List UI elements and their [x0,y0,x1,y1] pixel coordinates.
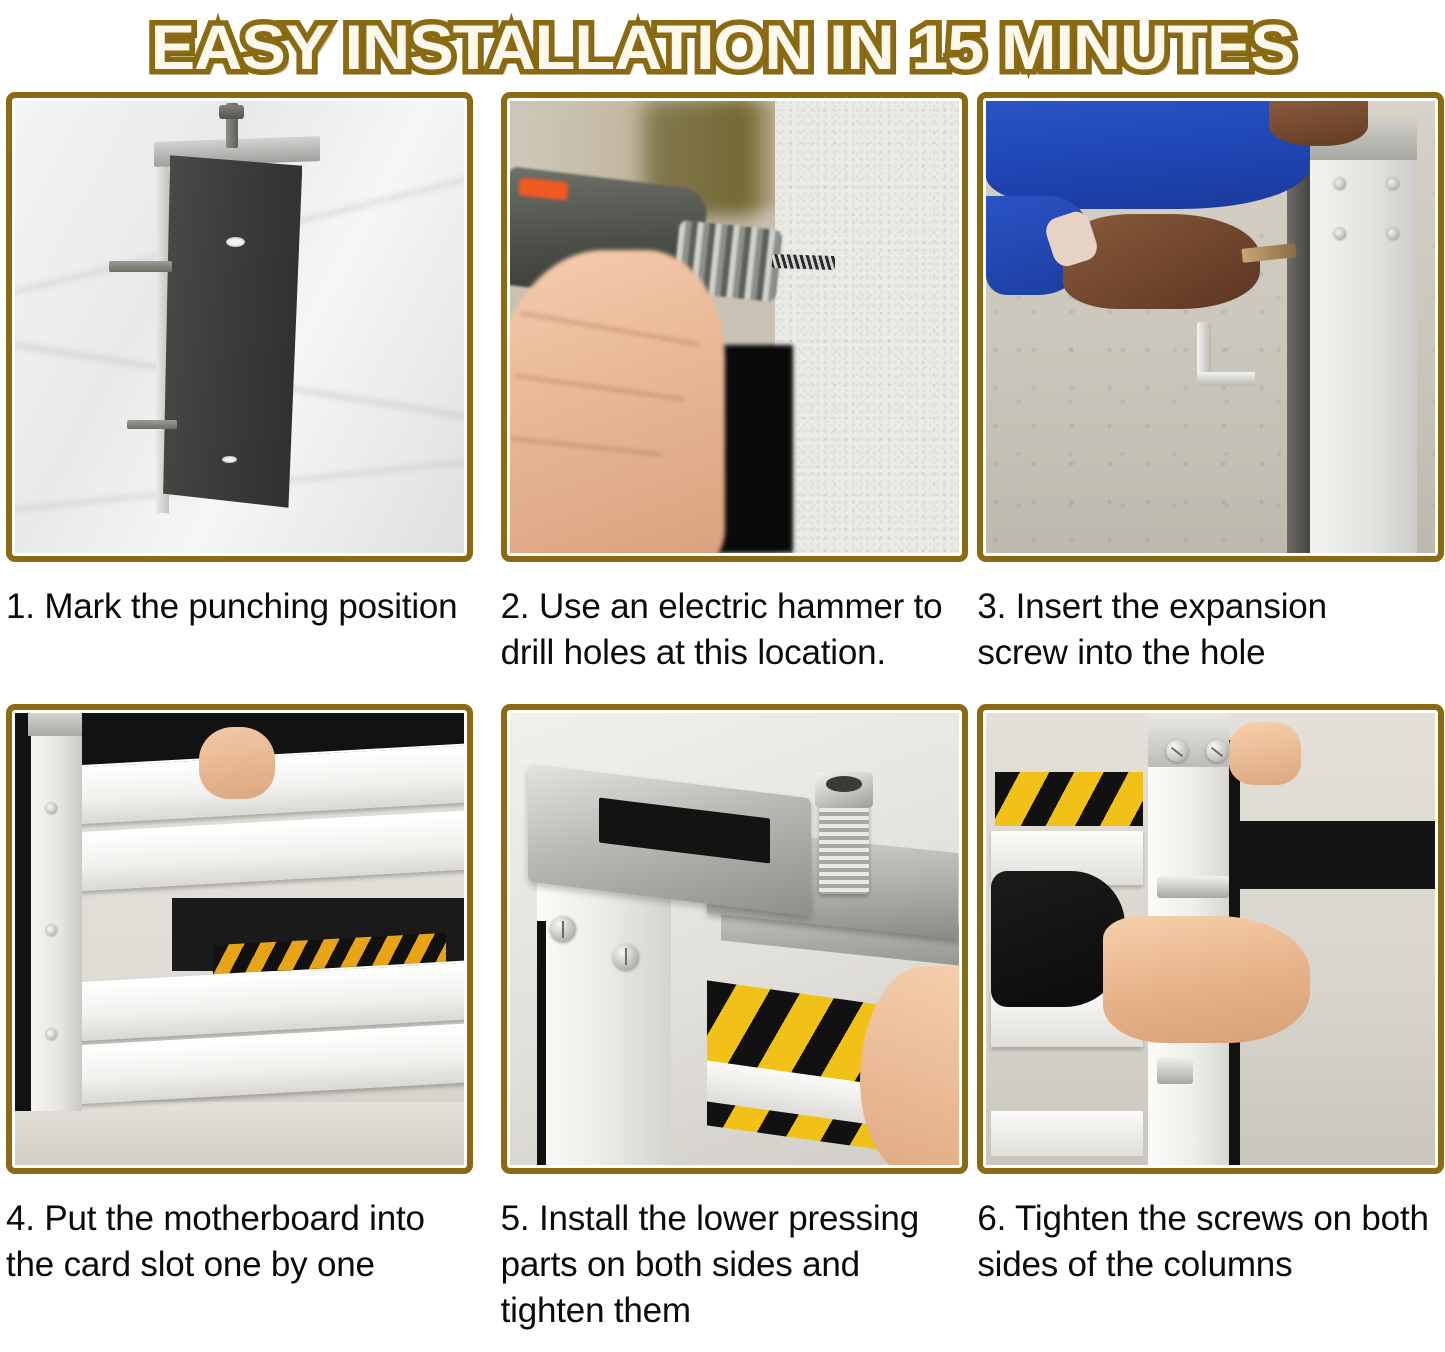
screw-icon [1334,178,1346,190]
step-card-5: 5. Install the lower pressing parts on b… [484,704,962,1319]
column-cap [28,713,82,736]
steps-grid: 1. Mark the punching position [0,92,1445,1319]
hand-icon [199,727,275,799]
screw-fitting-icon [1157,1057,1193,1084]
column-edge [1287,142,1309,553]
caption-line: 3. Insert the expansion [977,584,1425,630]
hand-icon [1229,722,1301,785]
step-photo-frame-5 [501,704,968,1174]
steps-row-bottom: 4. Put the motherboard into the card slo… [6,704,1439,1319]
hex-key-icon [1157,876,1229,899]
step-card-2: 2. Use an electric hammer to drill holes… [484,92,962,704]
step-caption-6: 6. Tighten the screws on both sides of t… [977,1174,1439,1288]
hand-icon [1103,916,1310,1043]
step-card-6: 6. Tighten the screws on both sides of t… [961,704,1439,1319]
drill-bit-icon [772,254,835,271]
steps-row-top: 1. Mark the punching position [6,92,1439,704]
caption-line: the card slot one by one [6,1242,470,1288]
step-caption-1: 1. Mark the punching position [6,562,484,630]
wall-surface [775,101,959,553]
hand-icon [510,250,726,553]
floor-surface [15,1102,464,1165]
caption-line: 6. Tighten the screws on both [977,1196,1425,1242]
step-card-3: 3. Insert the expansion screw into the h… [961,92,1439,704]
bolt-socket-icon [826,776,862,791]
step-photo-frame-2 [501,92,968,562]
screw-icon [613,944,639,970]
column-edge [15,713,31,1111]
arm-icon [1063,214,1261,309]
caption-line: parts on both sides and [501,1242,948,1288]
step-photo-2 [510,101,959,553]
step-photo-6 [986,713,1435,1165]
allen-key-icon [1197,322,1210,385]
anchor-bolt-icon [109,261,172,272]
blue-shirt [986,101,1309,209]
barrier-board [991,1111,1144,1156]
step-photo-4 [15,713,464,1165]
step-caption-5: 5. Install the lower pressing parts on b… [501,1174,962,1335]
step-photo-frame-1 [6,92,473,562]
screw-icon [1334,228,1346,240]
infographic-page: EASY INSTALLATION IN 15 MINUTES [0,0,1445,1352]
caption-line: tighten them [501,1288,948,1334]
step-photo-1 [15,101,464,553]
step-caption-2: 2. Use an electric hammer to drill holes… [501,562,962,676]
white-column [1310,119,1418,553]
step-photo-5 [510,713,959,1165]
step-photo-3 [986,101,1435,553]
hand-icon [1269,101,1368,146]
caption-line: sides of the columns [977,1242,1425,1288]
anchor-bolt-icon [127,420,176,429]
shadow-region [1229,821,1436,889]
step-caption-3: 3. Insert the expansion screw into the h… [977,562,1439,676]
hazard-stripe-band [995,772,1143,826]
step-photo-frame-3 [977,92,1444,562]
caption-line: drill holes at this location. [501,630,948,676]
stud-nut-icon [219,105,244,119]
caption-line: 2. Use an electric hammer to [501,584,948,630]
step-caption-4: 4. Put the motherboard into the card slo… [6,1174,484,1288]
slot-column [28,713,82,1111]
mounting-hole-icon [226,237,245,247]
step-card-1: 1. Mark the punching position [6,92,484,704]
title-banner: EASY INSTALLATION IN 15 MINUTES [0,0,1445,92]
caption-line: 1. Mark the punching position [6,584,470,630]
step-card-4: 4. Put the motherboard into the card slo… [6,704,484,1319]
caption-line: screw into the hole [977,630,1425,676]
step-photo-frame-4 [6,704,473,1174]
screw-icon [1387,228,1399,240]
column-edge [537,921,547,1165]
step-photo-frame-6 [977,704,1444,1174]
caption-line: 4. Put the motherboard into [6,1196,470,1242]
screw-icon [1166,740,1188,762]
mounting-post-template [163,155,302,508]
page-title: EASY INSTALLATION IN 15 MINUTES [151,17,1294,80]
caption-line: 5. Install the lower pressing [501,1196,948,1242]
